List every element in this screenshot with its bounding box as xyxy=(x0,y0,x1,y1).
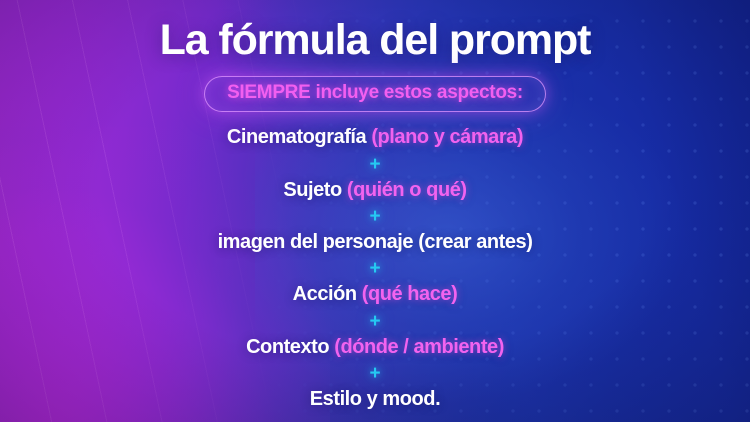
plus-separator-3: + xyxy=(369,259,380,278)
subtitle-pill-label: SIEMPRE incluye estos aspectos: xyxy=(227,82,523,103)
formula-step-5: Contexto (dónde / ambiente) xyxy=(246,336,504,358)
plus-separator-1: + xyxy=(369,155,380,174)
formula-step-5-accent: (dónde / ambiente) xyxy=(334,336,504,358)
slide-title: La fórmula del prompt xyxy=(160,0,591,63)
subtitle-pill-wrapper: SIEMPRE incluye estos aspectos: xyxy=(204,76,546,112)
plus-separator-2: + xyxy=(369,207,380,226)
slide-content: La fórmula del prompt SIEMPRE incluye es… xyxy=(0,0,750,422)
formula-step-4-main: Acción xyxy=(293,283,362,305)
plus-separator-5: + xyxy=(369,364,380,383)
formula-step-5-main: Contexto xyxy=(246,336,334,358)
formula-step-4-accent: (qué hace) xyxy=(362,283,458,305)
formula-step-4: Acción (qué hace) xyxy=(293,283,458,305)
formula-step-1-main: Cinematografía xyxy=(227,126,371,148)
slide-canvas: La fórmula del prompt SIEMPRE incluye es… xyxy=(0,0,750,422)
formula-step-3: imagen del personaje (crear antes) xyxy=(218,231,533,253)
formula-step-2-main: Sujeto xyxy=(283,179,347,201)
formula-step-1: Cinematografía (plano y cámara) xyxy=(227,126,523,148)
formula-step-6: Estilo y mood. xyxy=(310,388,440,410)
subtitle-pill: SIEMPRE incluye estos aspectos: xyxy=(204,76,546,112)
plus-separator-4: + xyxy=(369,312,380,331)
formula-list: Cinematografía (plano y cámara) + Sujeto… xyxy=(218,126,533,410)
formula-step-3-main: imagen del personaje (crear antes) xyxy=(218,231,533,253)
formula-step-6-main: Estilo y mood. xyxy=(310,388,440,410)
formula-step-2: Sujeto (quién o qué) xyxy=(283,179,466,201)
formula-step-2-accent: (quién o qué) xyxy=(347,179,467,201)
formula-step-1-accent: (plano y cámara) xyxy=(371,126,523,148)
